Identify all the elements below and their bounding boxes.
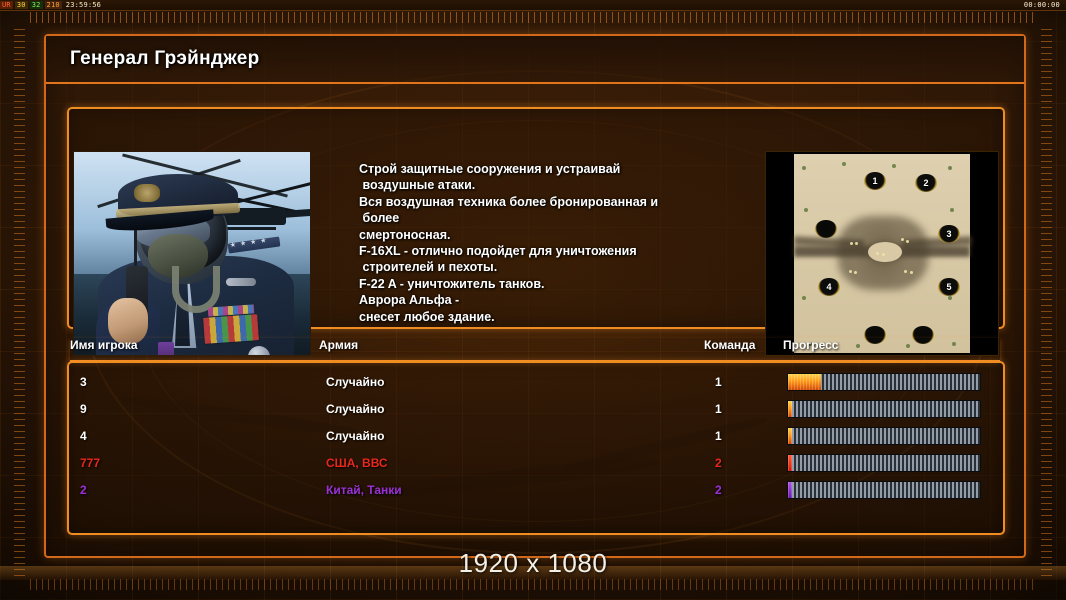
map-preview[interactable]: 1 2 3 4 5: [765, 151, 999, 356]
cell-team[interactable]: 2: [715, 456, 722, 470]
map-start-position-1[interactable]: 1: [864, 172, 886, 190]
progress-track: [788, 428, 980, 444]
table-row[interactable]: 3 Случайно 1: [69, 369, 1003, 394]
progress-fill: [788, 428, 792, 444]
status-segment-mem: 210: [45, 1, 62, 9]
progress-bar: [787, 373, 981, 391]
map-supply-icon: [906, 240, 909, 243]
map-supply-icon: [854, 271, 857, 274]
window-titlebar: Генерал Грэйнджер: [46, 36, 1024, 84]
status-segment-ur: UR: [0, 1, 13, 9]
oxygen-hose: [172, 266, 220, 313]
table-row[interactable]: 2 Китай, Танки 2: [69, 477, 1003, 502]
table-row[interactable]: 4 Случайно 1: [69, 423, 1003, 448]
map-prop-icon: [948, 296, 952, 300]
description-line: F-22 A - уничтожитель танков.: [359, 276, 759, 292]
description-line: смертоносная.: [359, 227, 759, 243]
general-figure: [96, 170, 292, 356]
map-supply-icon: [910, 271, 913, 274]
map-supply-icon: [876, 252, 879, 255]
progress-fill: [788, 455, 792, 471]
progress-bar: [787, 400, 981, 418]
map-start-position-empty[interactable]: [815, 220, 837, 238]
cell-team[interactable]: 1: [715, 375, 722, 389]
cell-army[interactable]: Китай, Танки: [326, 483, 402, 497]
map-central-clearing: [868, 242, 902, 262]
cell-player-name: 9: [80, 402, 87, 416]
description-line: воздушные атаки.: [359, 177, 759, 193]
map-prop-icon: [892, 164, 896, 168]
player-table: 3 Случайно 1 9 Случайно 1 4 Случай: [67, 361, 1005, 535]
map-supply-icon: [855, 242, 858, 245]
map-terrain: 1 2 3 4 5: [794, 154, 970, 353]
map-prop-icon: [802, 166, 806, 170]
cell-team[interactable]: 1: [715, 429, 722, 443]
column-header-progress: Прогресс: [783, 338, 838, 352]
progress-fill: [788, 482, 792, 498]
description-line: Аврора Альфа -: [359, 292, 759, 308]
map-supply-icon: [849, 270, 852, 273]
game-screen: UR 30 32 210 23:59:56 00:00:00 Генерал Г…: [0, 0, 1066, 600]
player-table-header: Имя игрока Армия Команда Прогресс: [70, 338, 1000, 362]
progress-fill: [788, 374, 821, 390]
cell-player-name: 4: [80, 429, 87, 443]
progress-track: [788, 482, 980, 498]
map-prop-icon: [948, 166, 952, 170]
cell-army[interactable]: Случайно: [326, 375, 384, 389]
rank-stars-icon: [228, 236, 281, 253]
description-line: Вся воздушная техника более бронированна…: [359, 194, 759, 210]
status-segment-fps: 30: [15, 1, 28, 9]
status-segment-ping: 32: [30, 1, 43, 9]
status-timer: 00:00:00: [1024, 1, 1066, 9]
cell-team[interactable]: 1: [715, 402, 722, 416]
general-info-panel: Строй защитные сооружения и устраивай во…: [67, 107, 1005, 329]
table-row[interactable]: 777 США, ВВС 2: [69, 450, 1003, 475]
column-header-army: Армия: [319, 338, 358, 352]
description-line: Строй защитные сооружения и устраивай: [359, 161, 759, 177]
column-header-player-name: Имя игрока: [70, 338, 138, 352]
progress-bar: [787, 481, 981, 499]
cell-army[interactable]: США, ВВС: [326, 456, 388, 470]
cell-team[interactable]: 2: [715, 483, 722, 497]
progress-bar: [787, 427, 981, 445]
status-clock: 23:59:56: [64, 1, 103, 9]
pilot-wings-icon: [226, 278, 256, 286]
table-row[interactable]: 9 Случайно 1: [69, 396, 1003, 421]
map-prop-icon: [842, 162, 846, 166]
officer-cap-emblem-icon: [134, 184, 160, 202]
description-line: снесет любое здание.: [359, 309, 759, 325]
map-start-position-5[interactable]: 5: [938, 278, 960, 296]
cell-player-name: 2: [80, 483, 87, 497]
progress-bar: [787, 454, 981, 472]
description-line: более: [359, 210, 759, 226]
map-prop-icon: [950, 208, 954, 212]
map-start-position-4[interactable]: 4: [818, 278, 840, 296]
status-bar: UR 30 32 210 23:59:56 00:00:00: [0, 0, 1066, 11]
map-start-position-3[interactable]: 3: [938, 225, 960, 243]
general-description: Строй защитные сооружения и устраивай во…: [359, 161, 759, 325]
general-portrait: [73, 151, 311, 356]
map-prop-icon: [802, 296, 806, 300]
map-supply-icon: [904, 270, 907, 273]
map-supply-icon: [882, 253, 885, 256]
column-header-team: Команда: [704, 338, 755, 352]
description-line: F-16XL - отлично подойдет для уничтожени…: [359, 243, 759, 259]
map-supply-icon: [850, 242, 853, 245]
progress-track: [788, 401, 980, 417]
map-prop-icon: [804, 208, 808, 212]
description-line: строителей и пехоты.: [359, 259, 759, 275]
cell-army[interactable]: Случайно: [326, 402, 384, 416]
page-title: Генерал Грэйнджер: [70, 48, 260, 70]
cell-army[interactable]: Случайно: [326, 429, 384, 443]
map-supply-icon: [901, 238, 904, 241]
cell-player-name: 3: [80, 375, 87, 389]
progress-track: [788, 455, 980, 471]
cell-player-name: 777: [80, 456, 100, 470]
map-start-position-2[interactable]: 2: [915, 174, 937, 192]
lobby-window: Генерал Грэйнджер: [44, 34, 1026, 558]
progress-fill: [788, 401, 792, 417]
resolution-label: 1920 x 1080: [0, 548, 1066, 579]
